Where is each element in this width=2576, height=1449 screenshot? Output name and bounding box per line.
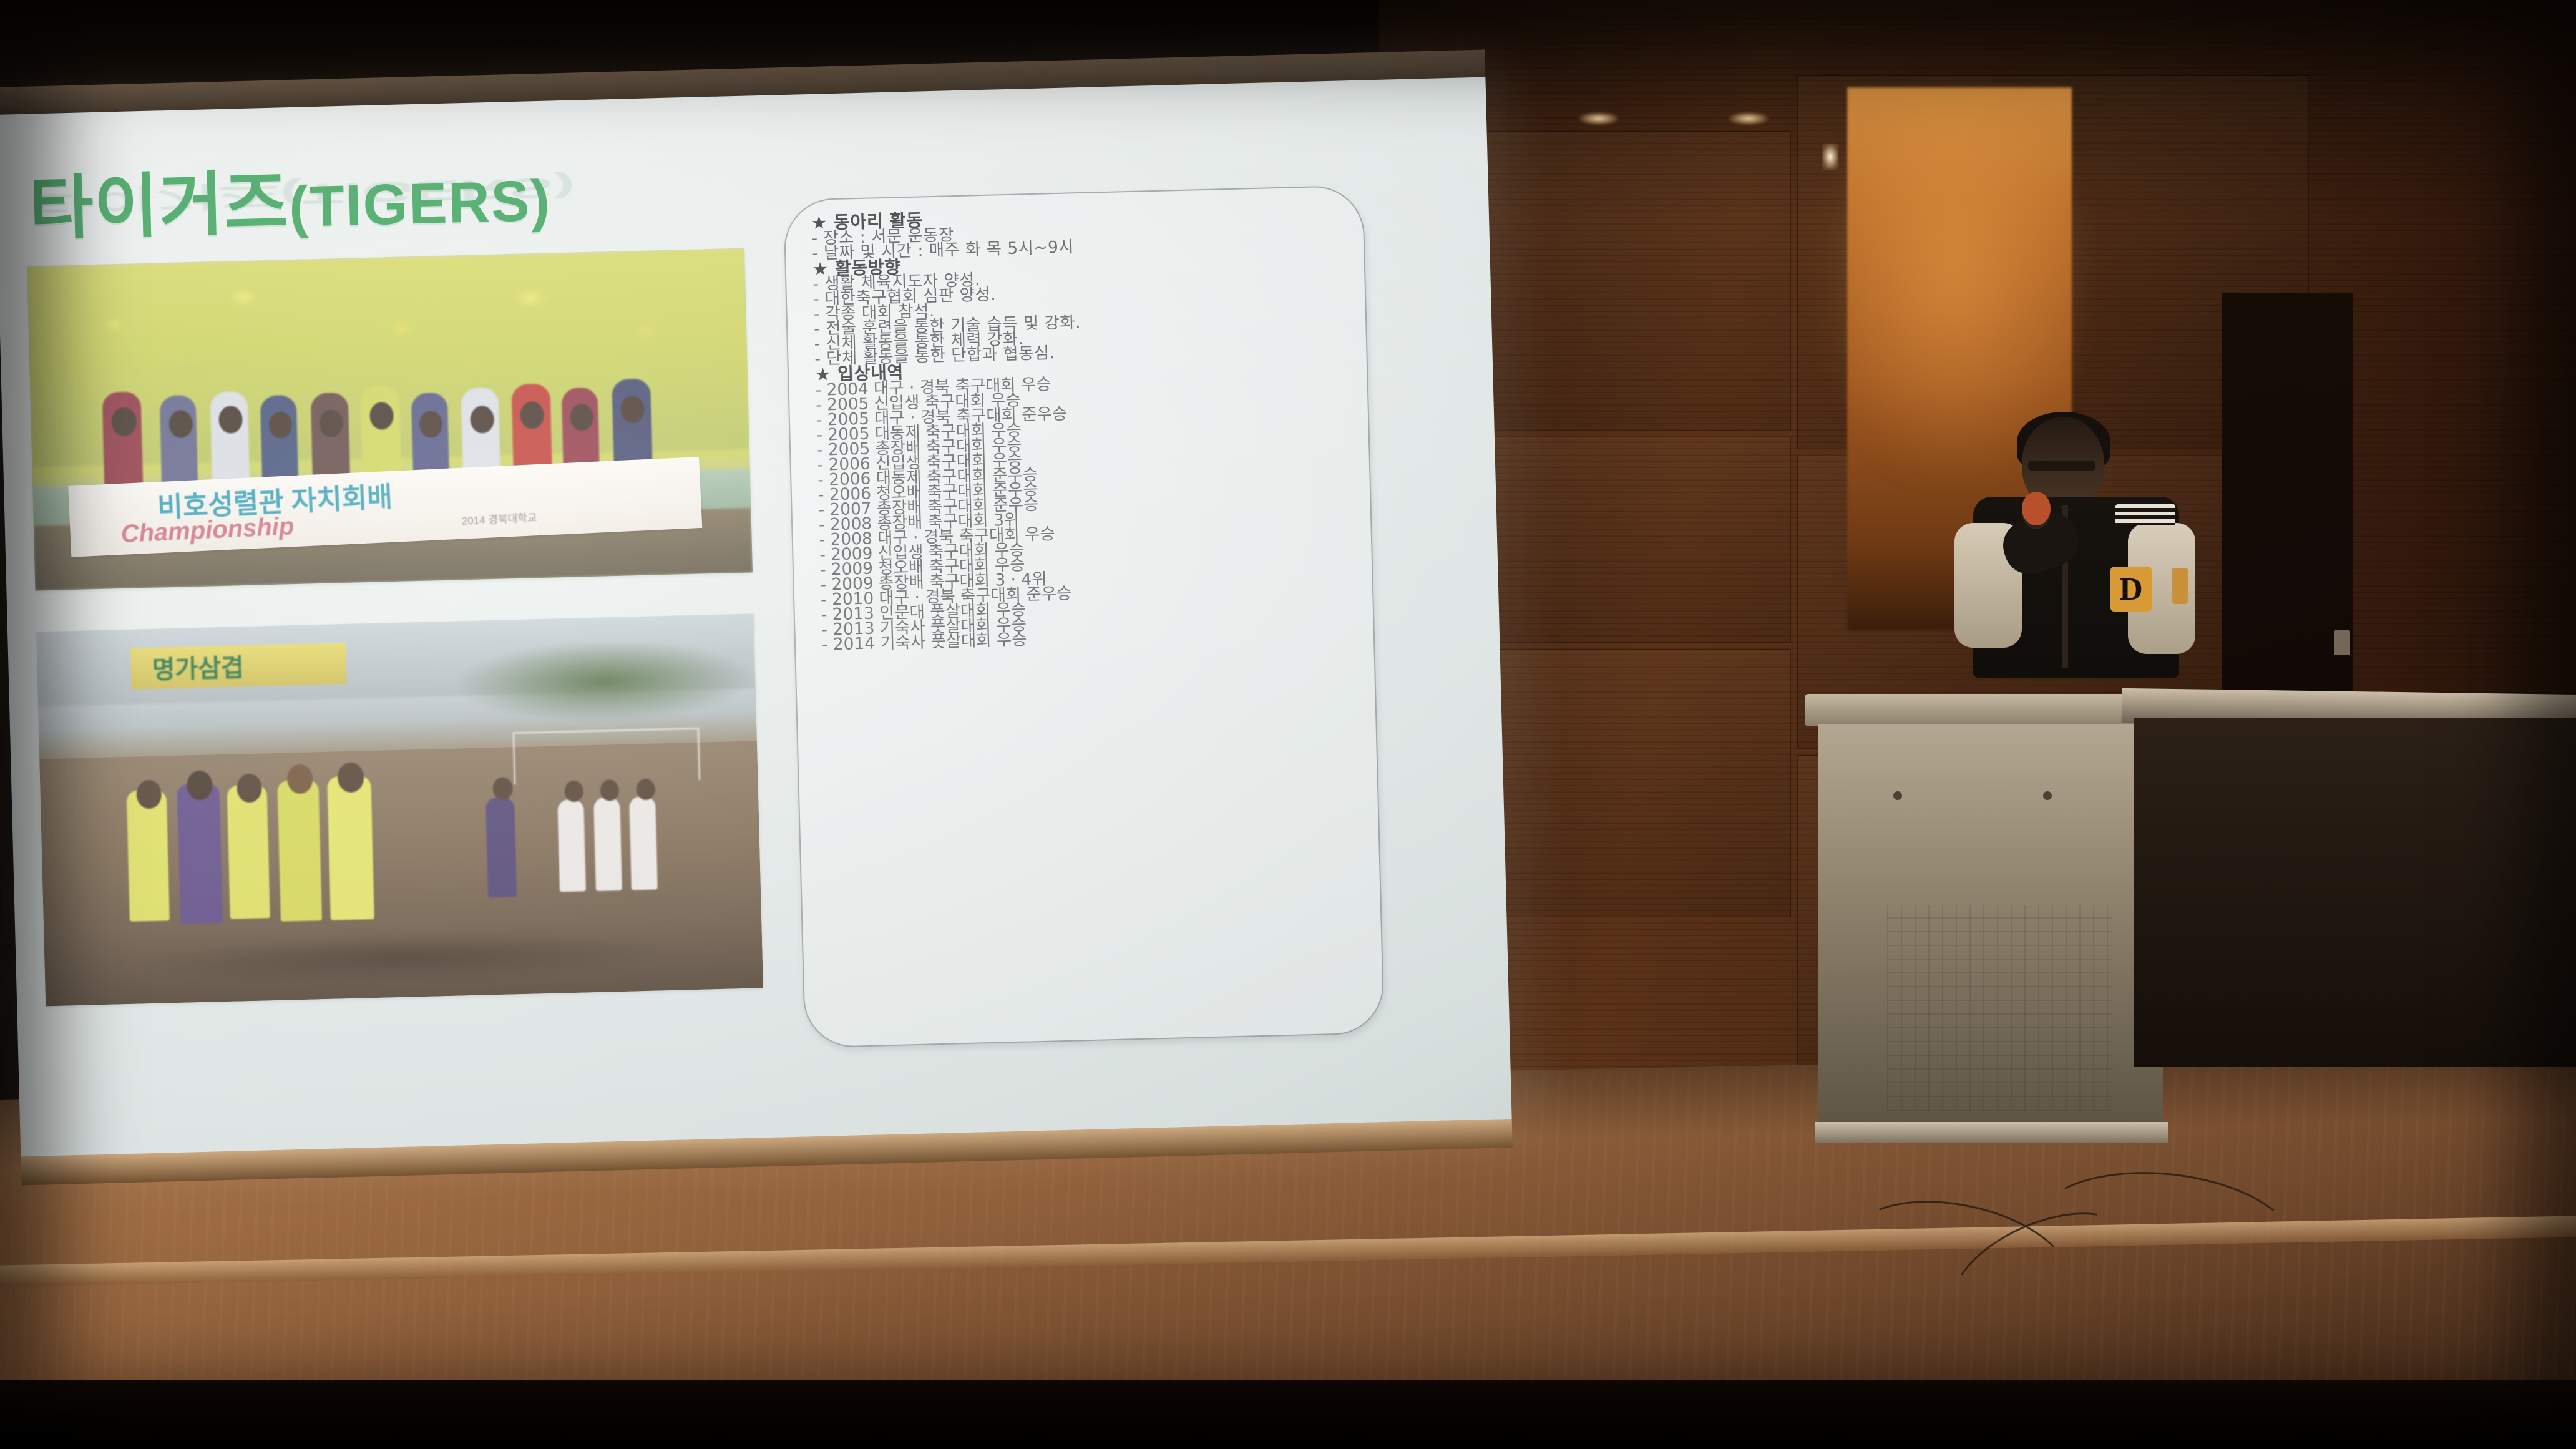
photo-soccer-match: 명가삼겹 (36, 613, 763, 1006)
microphone-icon (2022, 492, 2051, 525)
photo2-player (227, 784, 270, 919)
photo2-player-head (492, 777, 513, 800)
photo2-player (557, 799, 586, 892)
podium-base (1815, 1122, 2168, 1143)
photo1-person-head (111, 407, 137, 436)
slide-text-card-lines: ★ 동아리 활동- 장소 : 서문 운동장- 날짜 및 시간 : 매주 화 목 … (811, 202, 1368, 1037)
podium-top-surface (1805, 694, 2177, 726)
ceiling-downlight-icon (1579, 112, 1619, 125)
banner-line-3: 2014 경북대학교 (461, 509, 537, 528)
stage-front-shadow (0, 1380, 2576, 1449)
wall-lamp-icon (1822, 144, 1838, 170)
photo2-player (327, 776, 374, 920)
photo1-person-head (369, 402, 394, 430)
auditorium-scene: 타이거즈(TIGERS) 타이거즈(TIGERS) (0, 0, 2576, 1449)
podium-perforated-panel (1887, 905, 2112, 1111)
projection-screen: 타이거즈(TIGERS) 타이거즈(TIGERS) (0, 50, 1513, 1186)
presenter: D (1928, 412, 2228, 674)
screen-surface: 타이거즈(TIGERS) 타이거즈(TIGERS) (0, 77, 1512, 1157)
photo1-person-head (168, 410, 193, 438)
photo2-player (177, 783, 223, 924)
photo1-person-head (268, 411, 292, 439)
photo2-player-head (186, 771, 212, 801)
podium-body (1818, 724, 2163, 1123)
slide-text-card: ★ 동아리 활동- 장소 : 서문 운동장- 날짜 및 시간 : 매주 화 목 … (783, 185, 1385, 1048)
photo2-player-head (636, 779, 655, 801)
photo2-player (485, 797, 517, 897)
slide: 타이거즈(TIGERS) 타이거즈(TIGERS) (0, 77, 1512, 1157)
podium-screw (1893, 791, 1902, 800)
photo2-trees (453, 636, 756, 726)
photo2-sign-text: 명가삼겹 (152, 647, 245, 686)
side-table-body (2134, 718, 2576, 1067)
podium-screw (2043, 791, 2052, 800)
podium (1810, 694, 2172, 1143)
photo2-player-head (286, 764, 313, 794)
wall-switch-plate[interactable] (2334, 630, 2350, 655)
photo2-goal (512, 728, 700, 785)
photo2-player-head (564, 780, 583, 802)
jacket-collar-stripe (2115, 504, 2175, 525)
glasses-icon (2028, 461, 2095, 471)
photo2-player (629, 796, 658, 890)
photo1-person-head (570, 404, 593, 431)
photo2-player (127, 789, 170, 922)
jacket-sleeve-patch (2172, 568, 2188, 604)
jacket-letter-patch: D (2110, 567, 2152, 612)
photo2-player (593, 797, 622, 891)
ceiling-downlight-icon (1729, 112, 1769, 125)
banner-line-2: Championship (120, 513, 295, 549)
photo-team-group: 비호성렬관 자치회배 Championship 2014 경북대학교 (27, 248, 753, 591)
photo2-player (277, 779, 322, 922)
